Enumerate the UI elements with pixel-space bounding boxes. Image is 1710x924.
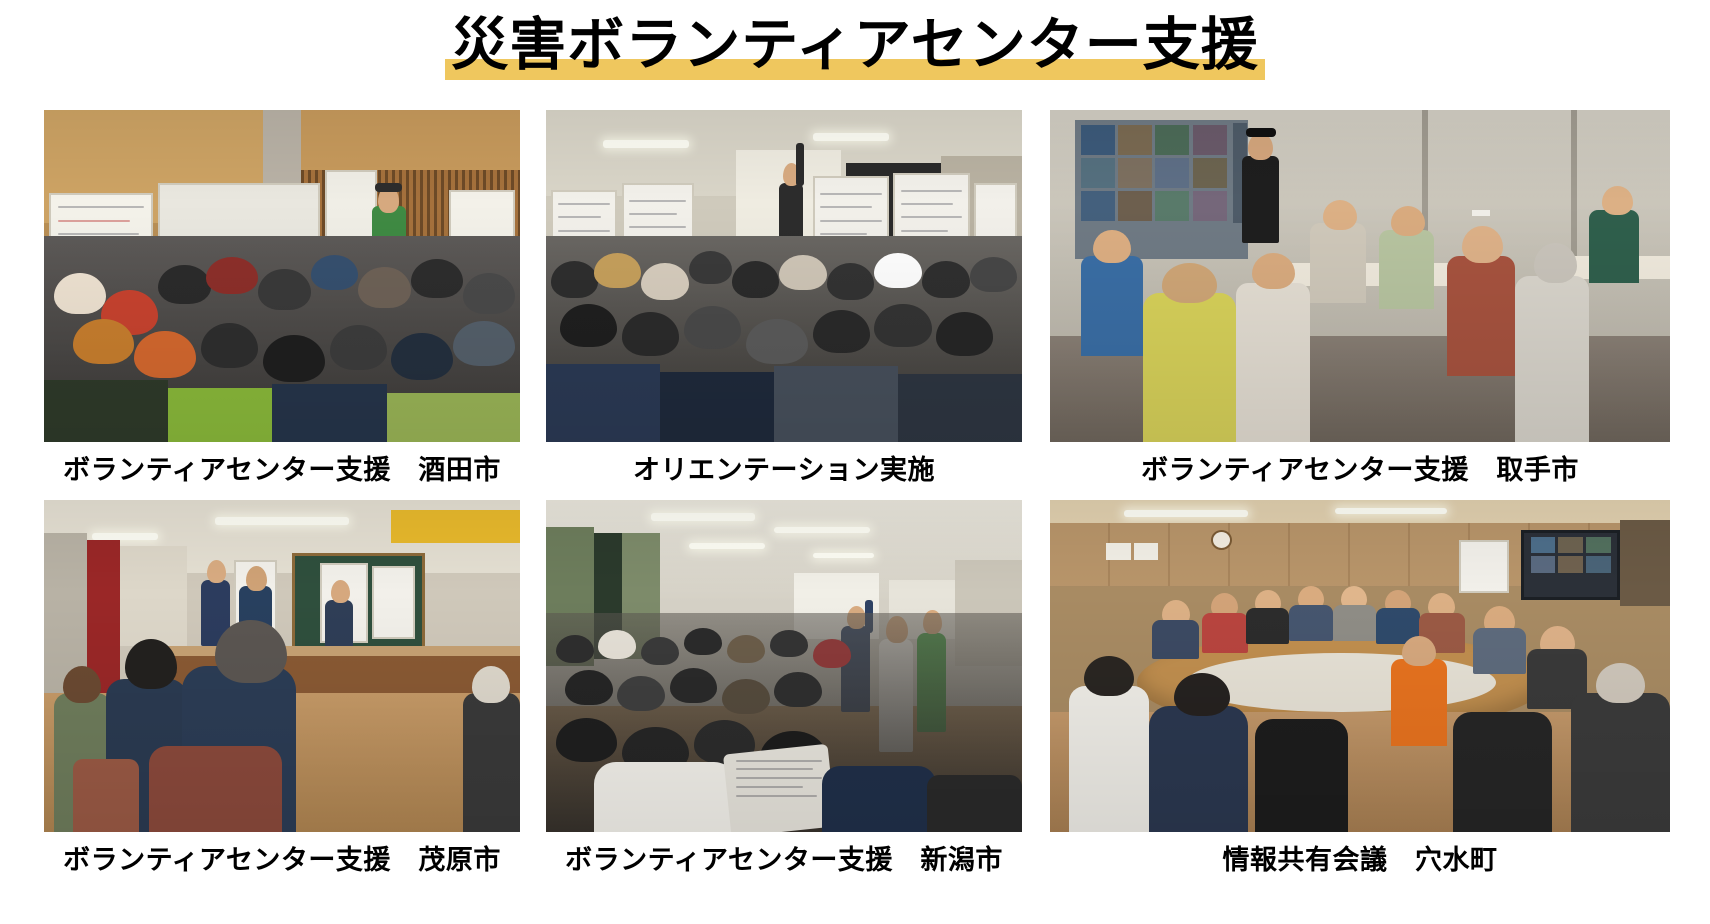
photo-sakata[interactable] xyxy=(44,110,520,442)
photo-grid-row-1: ボランティアセンター支援 酒田市 xyxy=(44,110,1666,500)
title-text: 災害ボランティアセンター支援 xyxy=(451,12,1258,78)
photo-caption-orientation: オリエンテーション実施 xyxy=(546,442,1022,500)
photo-cell-sakata: ボランティアセンター支援 酒田市 xyxy=(44,110,520,500)
photo-cell-toride: ボランティアセンター支援 取手市 xyxy=(1050,110,1670,500)
photo-cell-niigata: ボランティアセンター支援 新潟市 xyxy=(546,500,1022,890)
photo-grid: ボランティアセンター支援 酒田市 xyxy=(44,110,1666,910)
slide-root: 災害ボランティアセンター支援 xyxy=(0,0,1710,924)
photo-caption-mobara: ボランティアセンター支援 茂原市 xyxy=(44,832,520,890)
photo-grid-row-2: ボランティアセンター支援 茂原市 xyxy=(44,500,1666,890)
photo-cell-orientation: オリエンテーション実施 xyxy=(546,110,1022,500)
photo-mobara[interactable] xyxy=(44,500,520,832)
photo-caption-niigata: ボランティアセンター支援 新潟市 xyxy=(546,832,1022,890)
photo-caption-sakata: ボランティアセンター支援 酒田市 xyxy=(44,442,520,500)
photo-cell-anamizu: 情報共有会議 穴水町 xyxy=(1050,500,1670,890)
photo-cell-mobara: ボランティアセンター支援 茂原市 xyxy=(44,500,520,890)
photo-toride[interactable] xyxy=(1050,110,1670,442)
page-title: 災害ボランティアセンター支援 xyxy=(0,6,1710,84)
photo-niigata[interactable] xyxy=(546,500,1022,832)
title-wrap: 災害ボランティアセンター支援 xyxy=(445,6,1264,84)
photo-anamizu[interactable] xyxy=(1050,500,1670,832)
photo-caption-toride: ボランティアセンター支援 取手市 xyxy=(1050,442,1670,500)
photo-orientation[interactable] xyxy=(546,110,1022,442)
photo-caption-anamizu: 情報共有会議 穴水町 xyxy=(1050,832,1670,890)
